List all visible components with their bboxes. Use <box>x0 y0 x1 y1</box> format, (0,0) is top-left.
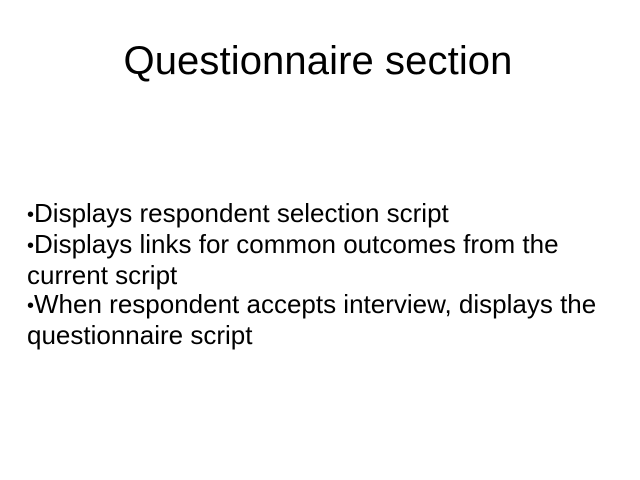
list-item-text: Displays links for common outcomes from … <box>27 229 559 290</box>
bullet-icon: • <box>27 235 34 257</box>
list-item-text: When respondent accepts interview, displ… <box>27 289 596 350</box>
list-item-text: Displays respondent selection script <box>34 198 449 228</box>
list-item: •Displays links for common outcomes from… <box>27 230 613 290</box>
bullet-icon: • <box>27 204 34 226</box>
bullet-list: •Displays respondent selection script •D… <box>27 199 613 350</box>
list-item: •When respondent accepts interview, disp… <box>27 290 613 350</box>
slide-canvas: Questionnaire section •Displays responde… <box>0 0 640 480</box>
page-title: Questionnaire section <box>0 38 636 84</box>
list-item: •Displays respondent selection script <box>27 199 613 230</box>
bullet-icon: • <box>27 295 34 317</box>
